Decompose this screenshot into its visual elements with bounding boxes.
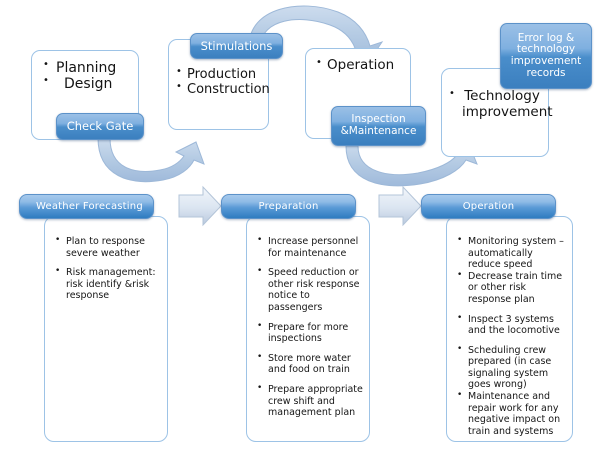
- weather-forecasting-header[interactable]: Weather Forecasting: [19, 194, 154, 219]
- check-gate-chip[interactable]: Check Gate: [56, 113, 144, 140]
- list-item: Maintenance and repair work for any nega…: [457, 391, 567, 437]
- list-item: Plan to response severe weather: [55, 236, 161, 259]
- weather-forecasting-card: Plan to response severe weather Risk man…: [44, 216, 168, 442]
- list-item: Prepare appropriate crew shift and manag…: [257, 384, 363, 419]
- list-item: Decrease train time or other risk respon…: [457, 271, 567, 306]
- list-item: Monitoring system –automatically reduce …: [457, 236, 567, 271]
- operation-header[interactable]: Operation: [421, 194, 556, 219]
- list-item: Prepare for more inspections: [257, 322, 363, 345]
- error-log-records-chip[interactable]: Error log & technology improvement recor…: [500, 23, 592, 89]
- list-item: Increase personnel for maintenance: [257, 236, 363, 259]
- operation-header-label: Operation: [422, 201, 555, 212]
- operation-top-list: Operation: [306, 49, 410, 74]
- list-item: Operation: [315, 58, 406, 74]
- curved-arrow-check-gate-to-production: [98, 138, 204, 182]
- list-item: Design: [42, 76, 132, 92]
- list-item: Store more water and food on train: [257, 353, 363, 376]
- check-gate-label: Check Gate: [67, 120, 134, 133]
- weather-forecasting-list: Plan to response severe weather Risk man…: [45, 217, 167, 302]
- list-item: Construction: [175, 82, 264, 97]
- inspection-maintenance-chip[interactable]: Inspection &Maintenance: [331, 106, 426, 146]
- operation-bottom-card: Monitoring system –automatically reduce …: [446, 216, 573, 442]
- list-item: Risk management: risk identify &risk res…: [55, 267, 161, 302]
- error-log-records-label: Error log & technology improvement recor…: [504, 33, 588, 79]
- weather-forecasting-header-label: Weather Forecasting: [20, 201, 143, 212]
- preparation-card: Increase personnel for maintenance Speed…: [246, 216, 370, 442]
- block-arrow-weather-to-preparation: [179, 187, 221, 225]
- inspection-maintenance-label: Inspection &Maintenance: [332, 114, 425, 137]
- operation-bottom-list: Monitoring system –automatically reduce …: [447, 217, 572, 437]
- stimulations-chip[interactable]: Stimulations: [190, 33, 283, 59]
- list-item: Planning: [42, 60, 132, 76]
- stimulations-label: Stimulations: [201, 40, 273, 53]
- preparation-header-label: Preparation: [222, 201, 355, 212]
- list-item: Scheduling crew prepared (in case signal…: [457, 345, 567, 391]
- preparation-header[interactable]: Preparation: [221, 194, 356, 219]
- preparation-list: Increase personnel for maintenance Speed…: [247, 217, 369, 419]
- list-item: Inspect 3 systems and the locomotive: [457, 314, 567, 337]
- list-item: Technology improvement: [448, 89, 542, 120]
- block-arrow-preparation-to-operation: [379, 187, 421, 225]
- planning-design-list: Planning Design: [32, 51, 138, 92]
- list-item: Production: [175, 67, 264, 82]
- diagram-canvas: Planning Design Check Gate Production Co…: [0, 0, 600, 450]
- list-item: Speed reduction or other risk response n…: [257, 267, 363, 313]
